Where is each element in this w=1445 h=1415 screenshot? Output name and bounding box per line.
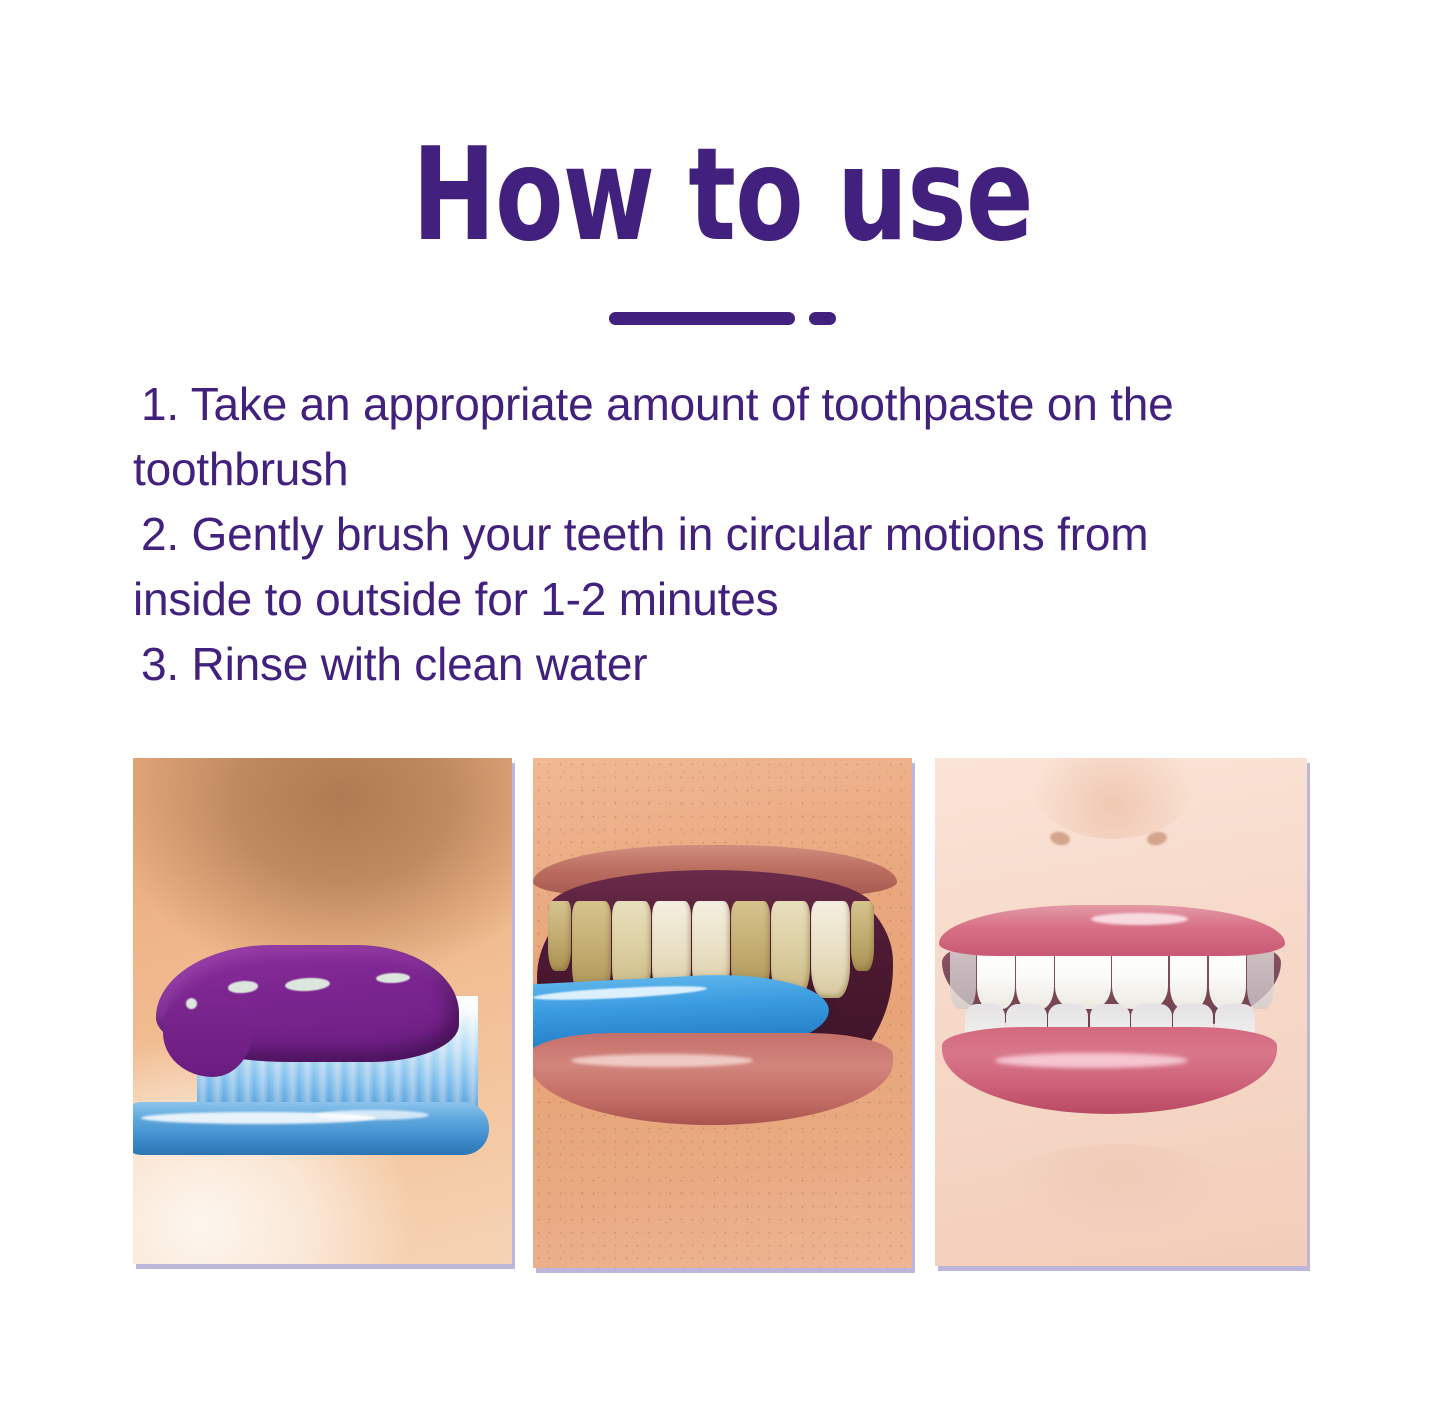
instruction-line-3: 2. Gently brush your teeth in circular m…: [133, 502, 1383, 567]
instruction-line-1: 1. Take an appropriate amount of toothpa…: [133, 372, 1383, 437]
instruction-line-5: 3. Rinse with clean water: [133, 632, 1383, 697]
tooth: [811, 901, 850, 998]
instruction-steps-list: 1. Take an appropriate amount of toothpa…: [133, 372, 1383, 697]
photo-3-scene: [935, 758, 1307, 1266]
instruction-line-2: toothbrush: [133, 437, 1383, 502]
divider-short-dash: [809, 312, 836, 325]
photo-toothpaste-on-brush: [133, 758, 512, 1264]
photo-white-smile-result: [935, 758, 1307, 1266]
chin: [1002, 1144, 1233, 1235]
photo-brushing-stained-teeth: [533, 758, 912, 1268]
tooth: [548, 901, 571, 971]
toothbrush-handle: [133, 1102, 489, 1155]
page-title: How to use: [159, 132, 1286, 260]
photo-2-scene: [533, 758, 912, 1268]
photo-1-scene: [133, 758, 512, 1264]
upper-lip-highlight: [1091, 913, 1188, 925]
tooth: [851, 901, 874, 971]
lower-lip-highlight: [571, 1054, 753, 1067]
title-divider: [0, 312, 1445, 325]
photo-gallery: [133, 758, 1308, 1270]
how-to-use-page: How to use 1. Take an appropriate amount…: [0, 0, 1445, 1415]
instruction-line-4: inside to outside for 1-2 minutes: [133, 567, 1383, 632]
divider-long-bar: [609, 312, 795, 325]
lower-lip-highlight: [995, 1053, 1188, 1068]
